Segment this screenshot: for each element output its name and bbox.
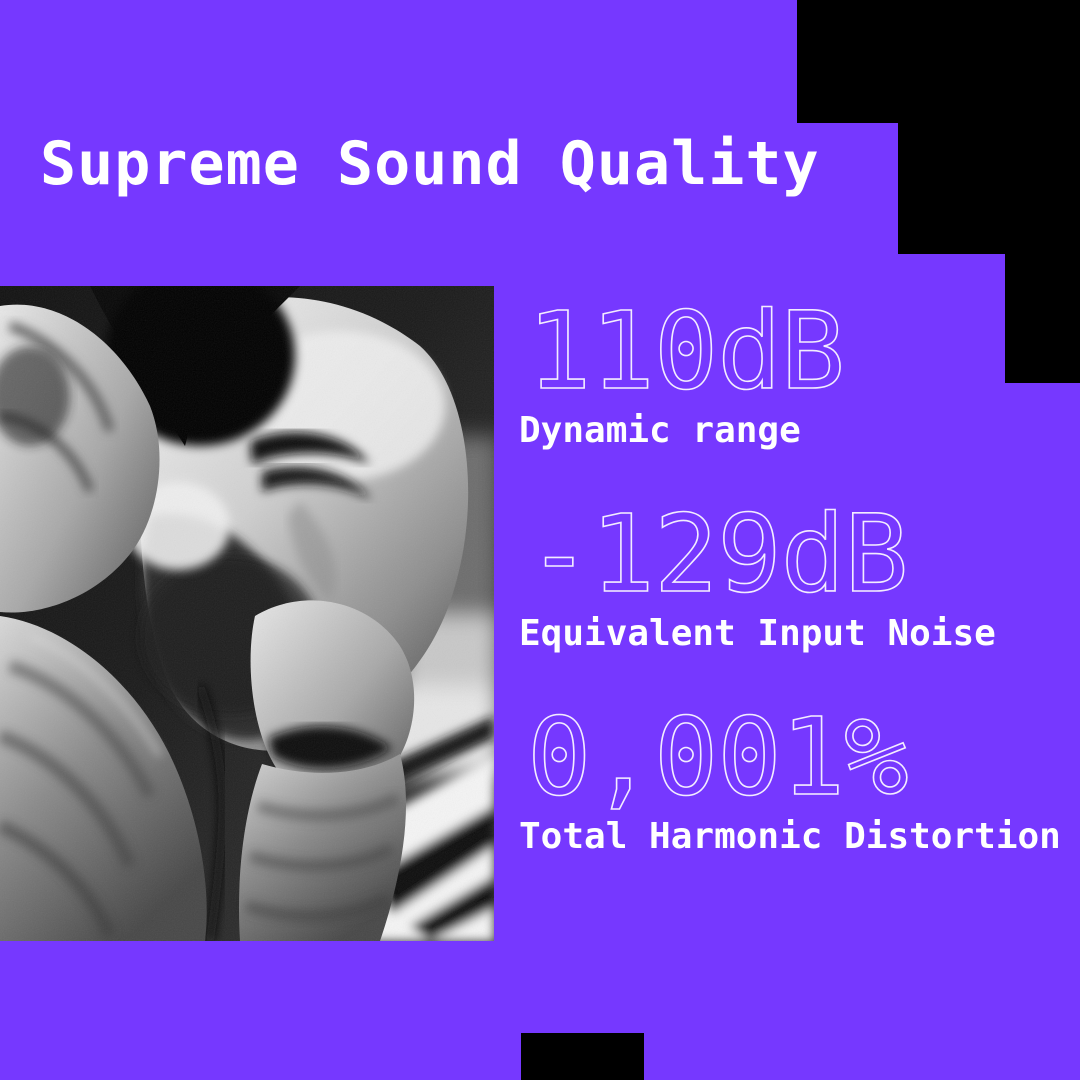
photo-illustration [0,286,494,941]
hero-photo [0,286,494,941]
stat-item: 0,001% Total Harmonic Distortion [519,702,1080,858]
stat-item: 110dB Dynamic range [519,296,1080,452]
black-staircase-step-2 [898,123,1080,254]
page-title: Supreme Sound Quality [40,128,820,200]
stat-value: 0,001% [527,702,1080,814]
stat-label: Dynamic range [519,410,1080,452]
black-square-accent [521,1033,644,1080]
stat-label: Equivalent Input Noise [519,613,1080,655]
poster-canvas: Supreme Sound Quality [0,0,1080,1080]
stat-label: Total Harmonic Distortion [519,816,1080,858]
black-staircase-step-1 [797,0,1080,123]
stat-value: 110dB [527,296,1080,408]
spec-stats-list: 110dB Dynamic range -129dB Equivalent In… [519,296,1080,858]
stat-value: -129dB [527,499,1080,611]
stat-item: -129dB Equivalent Input Noise [519,499,1080,655]
